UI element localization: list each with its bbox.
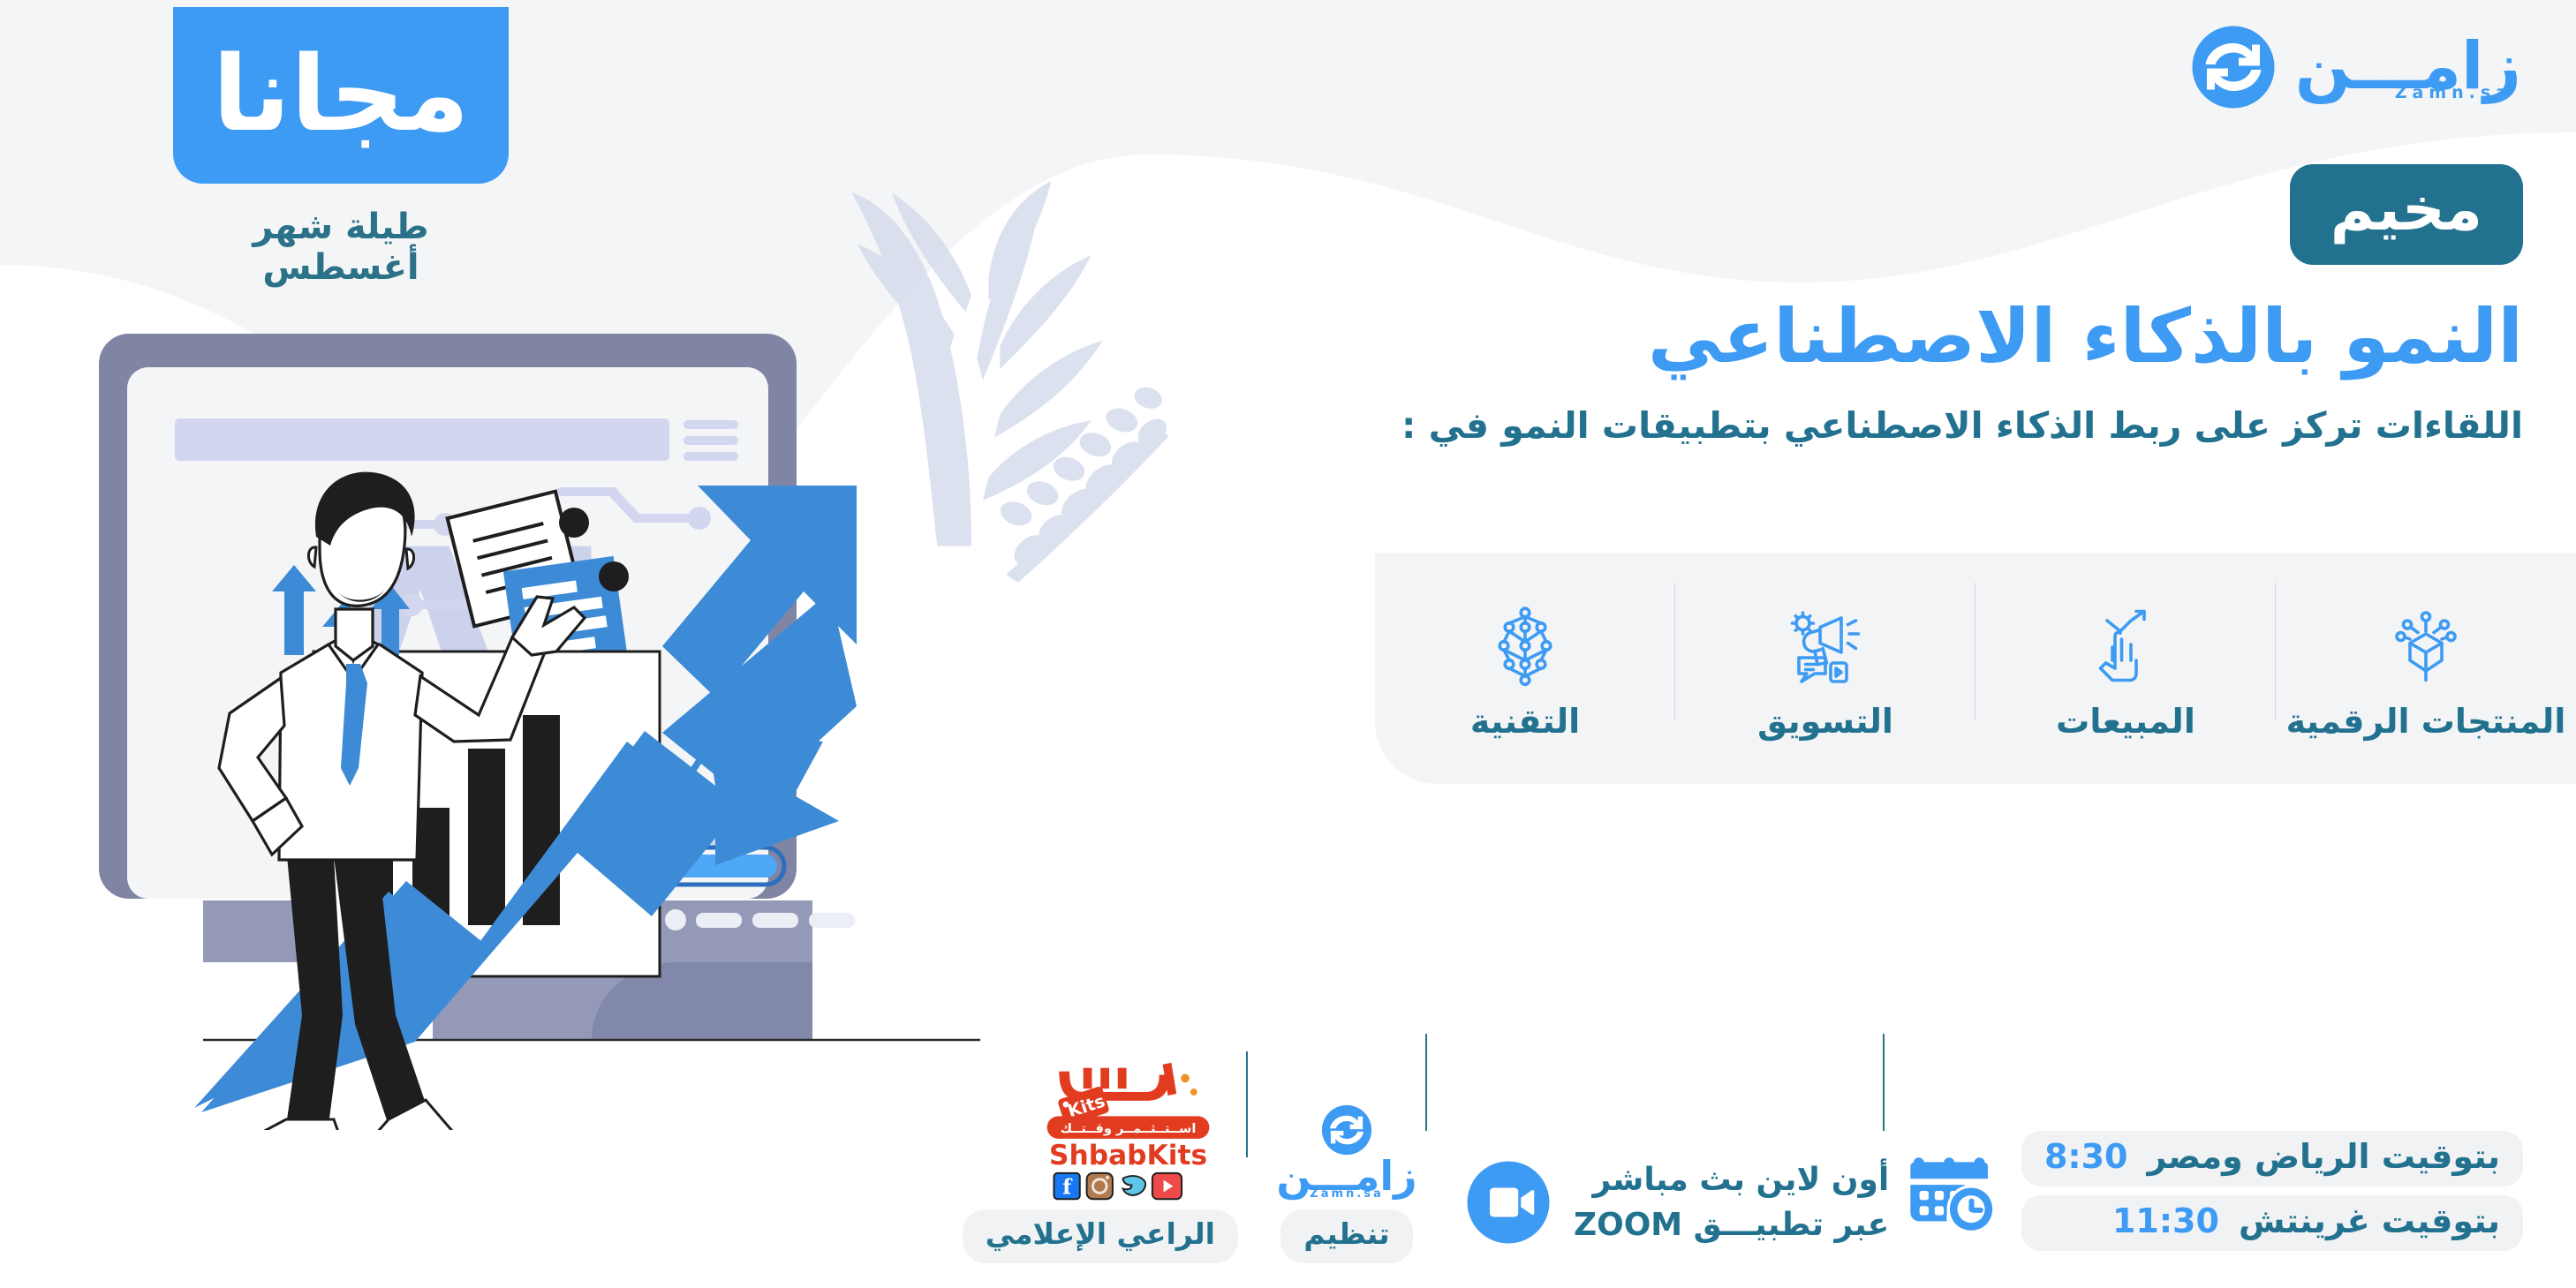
sponsor-social-icons: f xyxy=(1054,1173,1182,1199)
schedule-rows: بتوقيت الرياض ومصر 8:30 بتوقيت غرينتش 11… xyxy=(2021,1131,2523,1251)
brand-domain: Zamn.sa xyxy=(2395,85,2512,102)
topic-label: المنتجات الرقمية xyxy=(2286,702,2566,741)
schedule-zone: بتوقيت غرينتش xyxy=(2239,1201,2500,1240)
schedule-zone: بتوقيت الرياض ومصر xyxy=(2147,1137,2500,1176)
schedule-row: بتوقيت غرينتش 11:30 xyxy=(2021,1195,2523,1251)
schedule-block: بتوقيت الرياض ومصر 8:30 بتوقيت غرينتش 11… xyxy=(1901,1131,2523,1251)
hand-holding-growth-chart-icon xyxy=(2083,605,2168,689)
broadcast-line-2: عبر تطبيـــق ZOOM xyxy=(1574,1202,1889,1247)
schedule-time: 11:30 xyxy=(2112,1201,2219,1240)
footer-divider xyxy=(1246,1051,1248,1157)
media-sponsor-role: الراعي الإعلامي xyxy=(963,1209,1238,1263)
shbabkits-logo: Kits اســتــثــمــر وقــتــك ShbabKits f xyxy=(1033,1061,1223,1202)
brand-logo-text: زامـــن Zamn.sa xyxy=(2295,34,2521,102)
sponsor-latin-name: ShbabKits xyxy=(1048,1140,1206,1171)
neural-network-technology-icon xyxy=(1483,605,1568,689)
camp-kicker-wrap: مخيم xyxy=(1269,164,2523,265)
free-promo-block: مجانا طيلة شهر أغسطس xyxy=(173,7,509,288)
topic-label: التقنية xyxy=(1470,702,1580,741)
sync-refresh-icon xyxy=(1321,1104,1372,1156)
topics-panel: المنتجات الرقمية المبيعات xyxy=(1375,553,2576,784)
broadcast-block[interactable]: أون لاين بث مباشر عبر تطبيـــق ZOOM xyxy=(1466,1157,1889,1247)
free-badge-subtitle: طيلة شهر أغسطس xyxy=(173,207,509,288)
free-badge: مجانا xyxy=(173,7,509,184)
hero-text-column: مخيم النمو بالذكاء الاصطناعي اللقاءات تر… xyxy=(1269,164,2523,447)
sync-refresh-icon xyxy=(2191,25,2276,109)
topic-technology[interactable]: التقنية xyxy=(1375,553,1675,784)
calendar-clock-icon xyxy=(1901,1142,1998,1239)
organizer-block[interactable]: زامـــن Zamn.sa تنظيم xyxy=(1258,1104,1435,1263)
media-sponsor-block[interactable]: Kits اســتــثــمــر وقــتــك ShbabKits f xyxy=(1017,1061,1238,1263)
organizer-role: تنظيم xyxy=(1280,1209,1412,1263)
ai-presentation-illustration: AI xyxy=(97,327,1175,1130)
broadcast-text: أون لاين بث مباشر عبر تطبيـــق ZOOM xyxy=(1574,1157,1889,1247)
broadcast-line-1: أون لاين بث مباشر xyxy=(1574,1157,1889,1202)
sponsor-tagline: اســتــثــمــر وقــتــك xyxy=(1060,1121,1196,1136)
page-title: النمو بالذكاء الاصطناعي xyxy=(1269,295,2523,378)
megaphone-marketing-icon xyxy=(1783,605,1868,689)
brand-logo[interactable]: زامـــن Zamn.sa xyxy=(2191,25,2521,109)
banner-canvas: مجانا طيلة شهر أغسطس زامـــن Zamn.sa مخي… xyxy=(0,0,2576,1288)
topic-label: التسويق xyxy=(1757,702,1893,741)
topic-digital-products[interactable]: المنتجات الرقمية xyxy=(2276,553,2576,784)
topic-label: المبيعات xyxy=(2056,702,2195,741)
hero-subtitle: اللقاءات تركز على ربط الذكاء الاصطناعي ب… xyxy=(1269,404,2523,447)
digital-products-network-box-icon xyxy=(2383,605,2468,689)
topic-sales[interactable]: المبيعات xyxy=(1975,553,2276,784)
camp-badge: مخيم xyxy=(2290,164,2523,265)
topic-marketing[interactable]: التسويق xyxy=(1675,553,1975,784)
zoom-video-camera-icon xyxy=(1466,1160,1551,1245)
footer-bar: Kits اســتــثــمــر وقــتــك ShbabKits f xyxy=(0,1023,2576,1288)
footer-divider xyxy=(1883,1034,1885,1131)
schedule-row: بتوقيت الرياض ومصر 8:30 xyxy=(2021,1131,2523,1186)
schedule-time: 8:30 xyxy=(2044,1137,2128,1176)
